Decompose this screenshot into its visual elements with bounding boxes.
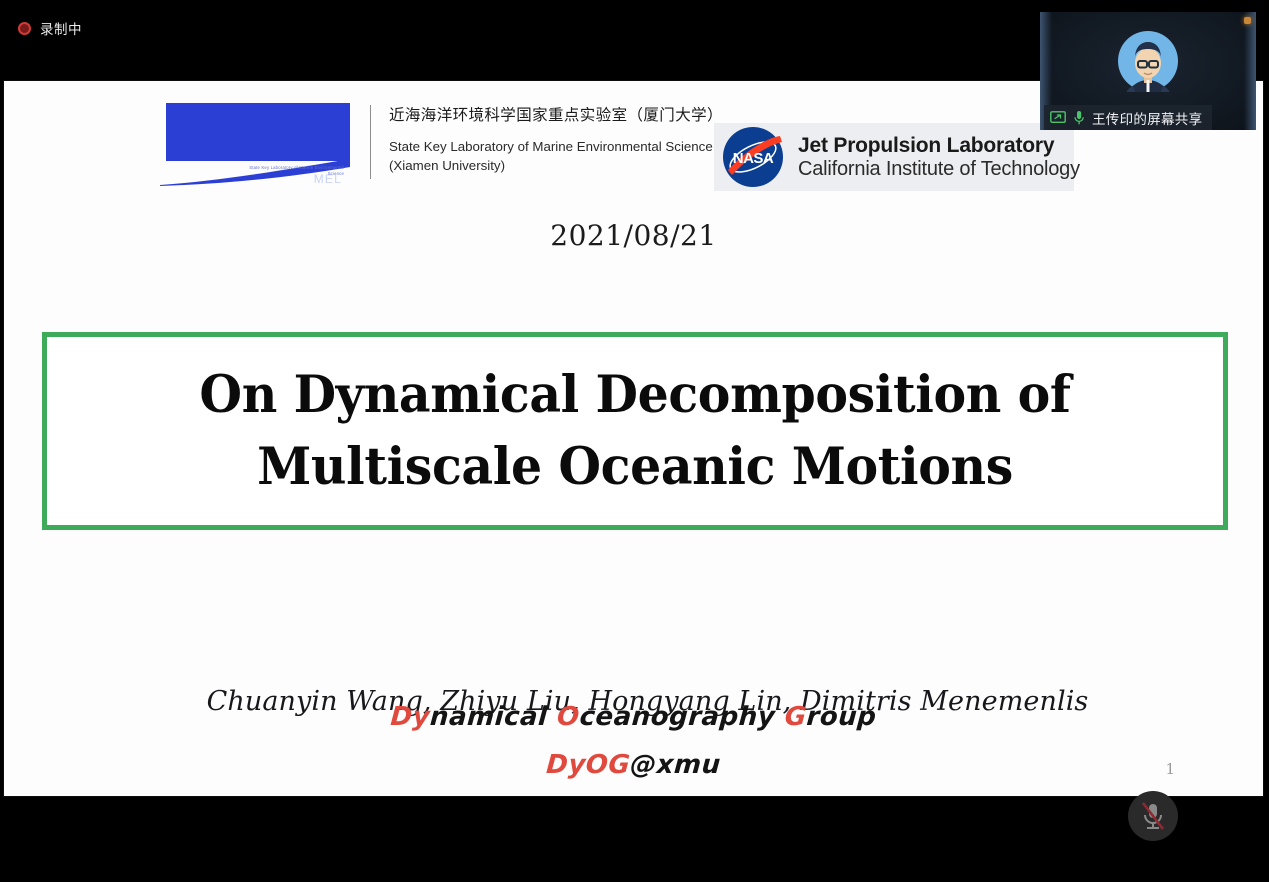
recording-label: 录制中 xyxy=(40,18,82,38)
jpl-logo-block: NASA Jet Propulsion Laboratory Californi… xyxy=(714,123,1074,191)
group-handle-line: DyOG@xmu xyxy=(4,741,1263,789)
group-name-line: Dynamical Oceanography Group xyxy=(4,693,1263,741)
group-text-segment: ceanography xyxy=(579,702,786,732)
user-avatar-icon xyxy=(1117,30,1179,92)
record-dot-icon xyxy=(18,22,31,35)
shared-screen-slide[interactable]: MEL State Key Laboratory of Marine Envir… xyxy=(4,81,1263,796)
presenter-video-thumbnail[interactable]: 王传印的屏幕共享 xyxy=(1040,12,1256,130)
mel-english-line1: State Key Laboratory of Marine Environme… xyxy=(389,138,723,157)
jpl-logo-text: Jet Propulsion Laboratory California Ins… xyxy=(798,134,1080,180)
slide-page-number: 1 xyxy=(1165,760,1175,778)
mute-toggle-button[interactable] xyxy=(1128,791,1178,841)
slide-group-branding: Dynamical Oceanography Group DyOG@xmu xyxy=(4,693,1263,789)
recording-indicator: 录制中 xyxy=(18,18,82,38)
svg-text:NASA: NASA xyxy=(733,150,774,167)
mel-chinese-name: 近海海洋环境科学国家重点实验室（厦门大学） xyxy=(389,103,723,125)
screen-share-label-bar: 王传印的屏幕共享 xyxy=(1044,105,1212,130)
microphone-icon xyxy=(1073,110,1085,126)
amber-status-dot-icon xyxy=(1244,17,1251,24)
slide-canvas: MEL State Key Laboratory of Marine Envir… xyxy=(4,81,1263,796)
screen-share-icon xyxy=(1050,111,1066,125)
jpl-title: Jet Propulsion Laboratory xyxy=(798,134,1080,158)
group-text-segment: G xyxy=(784,702,808,732)
zoom-meeting-window: 录制中 MEL State Key Laboratory of Marin xyxy=(0,0,1269,882)
mel-logo-text: 近海海洋环境科学国家重点实验室（厦门大学） State Key Laborato… xyxy=(389,101,723,176)
group-text-segment: Dy xyxy=(390,702,432,732)
nasa-logo-icon: NASA xyxy=(722,126,784,188)
jpl-subtitle: California Institute of Technology xyxy=(798,158,1080,180)
microphone-muted-icon xyxy=(1140,801,1166,831)
slide-title-box: On Dynamical Decomposition of Multiscale… xyxy=(42,332,1228,530)
group-text-segment: namical xyxy=(429,702,558,732)
mel-logo-subtext: State Key Laboratory of Marine Environme… xyxy=(234,165,344,178)
mel-english-line2: (Xiamen University) xyxy=(389,157,723,176)
group-text-segment: DyOG xyxy=(545,750,631,780)
slide-date: 2021/08/21 xyxy=(4,219,1263,252)
group-text-segment: roup xyxy=(806,702,878,732)
logo-divider xyxy=(370,105,371,179)
mel-logo-mark-icon: MEL State Key Laboratory of Marine Envir… xyxy=(160,103,350,188)
screen-share-label: 王传印的屏幕共享 xyxy=(1092,108,1202,128)
thumbnail-edge-right xyxy=(1244,12,1256,130)
slide-title: On Dynamical Decomposition of Multiscale… xyxy=(83,359,1187,504)
group-text-segment: @xmu xyxy=(629,750,721,780)
mel-logo-block: MEL State Key Laboratory of Marine Envir… xyxy=(160,101,705,197)
group-text-segment: O xyxy=(556,702,581,732)
